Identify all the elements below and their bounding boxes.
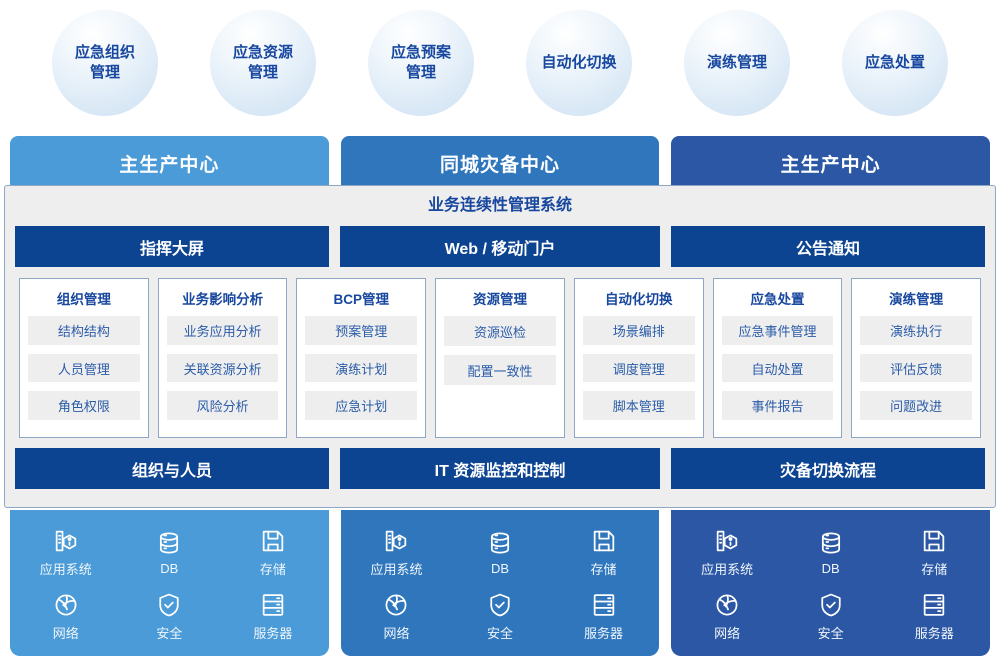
resource-item-db[interactable]: DB <box>118 520 222 584</box>
capability-circle-label: 应急组织 管理 <box>75 43 135 84</box>
storage-icon <box>259 527 287 555</box>
resource-panel-primary: 应用系统 DB 存储 网络 安全 服务器 <box>10 510 329 656</box>
module-card-item[interactable]: 配置一致性 <box>444 355 556 385</box>
resource-item-label: 存储 <box>260 559 286 578</box>
module-card-title: 资源管理 <box>444 288 556 308</box>
bcm-system-panel: 业务连续性管理系统 指挥大屏 Web / 移动门户 公告通知 组织管理 结构结构… <box>4 185 996 508</box>
network-icon <box>713 591 741 619</box>
storage-icon <box>590 527 618 555</box>
resource-item-server[interactable]: 服务器 <box>882 584 986 648</box>
resource-item-label: 安全 <box>156 623 182 642</box>
resource-item-network[interactable]: 网络 <box>675 584 779 648</box>
resource-item-label: 应用系统 <box>701 559 753 578</box>
module-card-item[interactable]: 结构结构 <box>28 316 140 345</box>
resource-item-label: 应用系统 <box>370 559 422 578</box>
band-cell-announcement[interactable]: 公告通知 <box>671 226 985 267</box>
resource-item-server[interactable]: 服务器 <box>552 584 656 648</box>
capability-circle-label: 应急预案 管理 <box>391 43 451 84</box>
resource-panel-remote: 应用系统 DB 存储 网络 安全 服务器 <box>671 510 990 656</box>
band-cell-web-portal[interactable]: Web / 移动门户 <box>340 226 660 267</box>
resource-item-application-system[interactable]: 应用系统 <box>14 520 118 584</box>
band-cell-it-resource-monitoring[interactable]: IT 资源监控和控制 <box>340 448 660 489</box>
resource-item-label: 网络 <box>53 623 79 642</box>
resource-item-label: 应用系统 <box>40 559 92 578</box>
resource-item-label: DB <box>491 561 509 576</box>
network-icon <box>382 591 410 619</box>
capability-circle-label: 演练管理 <box>707 53 767 73</box>
module-card-row: 组织管理 结构结构 人员管理 角色权限 业务影响分析 业务应用分析 关联资源分析… <box>19 278 981 438</box>
module-card-bcp[interactable]: BCP管理 预案管理 演练计划 应急计划 <box>296 278 426 438</box>
module-card-item[interactable]: 自动处置 <box>722 354 834 383</box>
module-card-item[interactable]: 角色权限 <box>28 391 140 420</box>
resource-item-label: 安全 <box>487 623 513 642</box>
storage-icon <box>920 527 948 555</box>
module-card-item[interactable]: 事件报告 <box>722 391 834 420</box>
module-card-title: 业务影响分析 <box>167 288 279 308</box>
capability-circle[interactable]: 应急组织 管理 <box>52 10 158 116</box>
capability-circle-label: 应急资源 管理 <box>233 43 293 84</box>
module-card-item[interactable]: 评估反馈 <box>860 354 972 383</box>
capability-circle[interactable]: 应急资源 管理 <box>210 10 316 116</box>
resource-item-network[interactable]: 网络 <box>345 584 449 648</box>
capability-circle-label: 自动化切换 <box>541 53 616 73</box>
module-card-item[interactable]: 场景编排 <box>583 316 695 345</box>
server-icon <box>259 591 287 619</box>
module-card-item[interactable]: 应急计划 <box>305 391 417 420</box>
module-card-title: 组织管理 <box>28 288 140 308</box>
band-cell-command-screen[interactable]: 指挥大屏 <box>15 226 329 267</box>
module-card-item[interactable]: 问题改进 <box>860 391 972 420</box>
application-system-icon <box>52 527 80 555</box>
resource-item-label: 存储 <box>921 559 947 578</box>
module-card-item[interactable]: 资源巡检 <box>444 316 556 346</box>
module-card-bia[interactable]: 业务影响分析 业务应用分析 关联资源分析 风险分析 <box>158 278 288 438</box>
page-title: 业务连续性管理系统 <box>5 186 995 220</box>
column-header: 主生产中心 <box>671 136 990 190</box>
security-shield-icon <box>155 591 183 619</box>
server-icon <box>590 591 618 619</box>
band-cell-org-and-people[interactable]: 组织与人员 <box>15 448 329 489</box>
resource-item-label: DB <box>160 561 178 576</box>
module-card-org-management[interactable]: 组织管理 结构结构 人员管理 角色权限 <box>19 278 149 438</box>
resource-item-label: 服务器 <box>915 623 954 642</box>
application-system-icon <box>713 527 741 555</box>
resource-item-storage[interactable]: 存储 <box>552 520 656 584</box>
resource-item-label: 安全 <box>818 623 844 642</box>
capability-circle[interactable]: 自动化切换 <box>526 10 632 116</box>
module-card-item[interactable]: 关联资源分析 <box>167 354 279 383</box>
resource-item-server[interactable]: 服务器 <box>221 584 325 648</box>
resource-item-application-system[interactable]: 应用系统 <box>345 520 449 584</box>
database-icon <box>486 529 514 557</box>
module-card-title: 演练管理 <box>860 288 972 308</box>
channel-band: 指挥大屏 Web / 移动门户 公告通知 <box>15 226 985 267</box>
module-card-item[interactable]: 演练执行 <box>860 316 972 345</box>
architecture-diagram: 应急组织 管理 应急资源 管理 应急预案 管理 自动化切换 演练管理 应急处置 … <box>0 0 1000 663</box>
module-card-title: 应急处置 <box>722 288 834 308</box>
module-card-item[interactable]: 应急事件管理 <box>722 316 834 345</box>
module-card-drill-management[interactable]: 演练管理 演练执行 评估反馈 问题改进 <box>851 278 981 438</box>
database-icon <box>817 529 845 557</box>
resource-item-db[interactable]: DB <box>448 520 552 584</box>
module-card-item[interactable]: 预案管理 <box>305 316 417 345</box>
module-card-title: 自动化切换 <box>583 288 695 308</box>
module-card-automated-switchover[interactable]: 自动化切换 场景编排 调度管理 脚本管理 <box>574 278 704 438</box>
capability-circle[interactable]: 应急预案 管理 <box>368 10 474 116</box>
resource-item-security[interactable]: 安全 <box>118 584 222 648</box>
resource-item-storage[interactable]: 存储 <box>221 520 325 584</box>
column-header: 同城灾备中心 <box>341 136 660 190</box>
capability-circle[interactable]: 应急处置 <box>842 10 948 116</box>
resource-item-label: 服务器 <box>584 623 623 642</box>
module-card-item[interactable]: 风险分析 <box>167 391 279 420</box>
module-card-item[interactable]: 业务应用分析 <box>167 316 279 345</box>
resource-item-security[interactable]: 安全 <box>448 584 552 648</box>
resource-item-label: 网络 <box>714 623 740 642</box>
resource-item-security[interactable]: 安全 <box>779 584 883 648</box>
resource-item-db[interactable]: DB <box>779 520 883 584</box>
network-icon <box>52 591 80 619</box>
resource-item-label: 网络 <box>383 623 409 642</box>
resource-item-network[interactable]: 网络 <box>14 584 118 648</box>
module-card-item[interactable]: 演练计划 <box>305 354 417 383</box>
capability-band: 组织与人员 IT 资源监控和控制 灾备切换流程 <box>15 448 985 489</box>
database-icon <box>155 529 183 557</box>
resource-panel-row: 应用系统 DB 存储 网络 安全 服务器 <box>10 510 990 656</box>
capability-circle[interactable]: 演练管理 <box>684 10 790 116</box>
resource-item-label: 服务器 <box>253 623 292 642</box>
module-card-emergency-response[interactable]: 应急处置 应急事件管理 自动处置 事件报告 <box>713 278 843 438</box>
module-card-item[interactable]: 调度管理 <box>583 354 695 383</box>
capability-circle-row: 应急组织 管理 应急资源 管理 应急预案 管理 自动化切换 演练管理 应急处置 <box>0 0 1000 126</box>
security-shield-icon <box>817 591 845 619</box>
capability-circle-label: 应急处置 <box>865 53 925 73</box>
column-header: 主生产中心 <box>10 136 329 190</box>
security-shield-icon <box>486 591 514 619</box>
module-card-resource-management[interactable]: 资源管理 资源巡检 配置一致性 <box>435 278 565 438</box>
resource-item-label: 存储 <box>591 559 617 578</box>
resource-panel-metro-dr: 应用系统 DB 存储 网络 安全 服务器 <box>341 510 660 656</box>
module-card-item[interactable]: 脚本管理 <box>583 391 695 420</box>
application-system-icon <box>382 527 410 555</box>
server-icon <box>920 591 948 619</box>
band-cell-dr-switch-process[interactable]: 灾备切换流程 <box>671 448 985 489</box>
module-card-item[interactable]: 人员管理 <box>28 354 140 383</box>
resource-item-application-system[interactable]: 应用系统 <box>675 520 779 584</box>
resource-item-label: DB <box>822 561 840 576</box>
resource-item-storage[interactable]: 存储 <box>882 520 986 584</box>
module-card-title: BCP管理 <box>305 288 417 308</box>
